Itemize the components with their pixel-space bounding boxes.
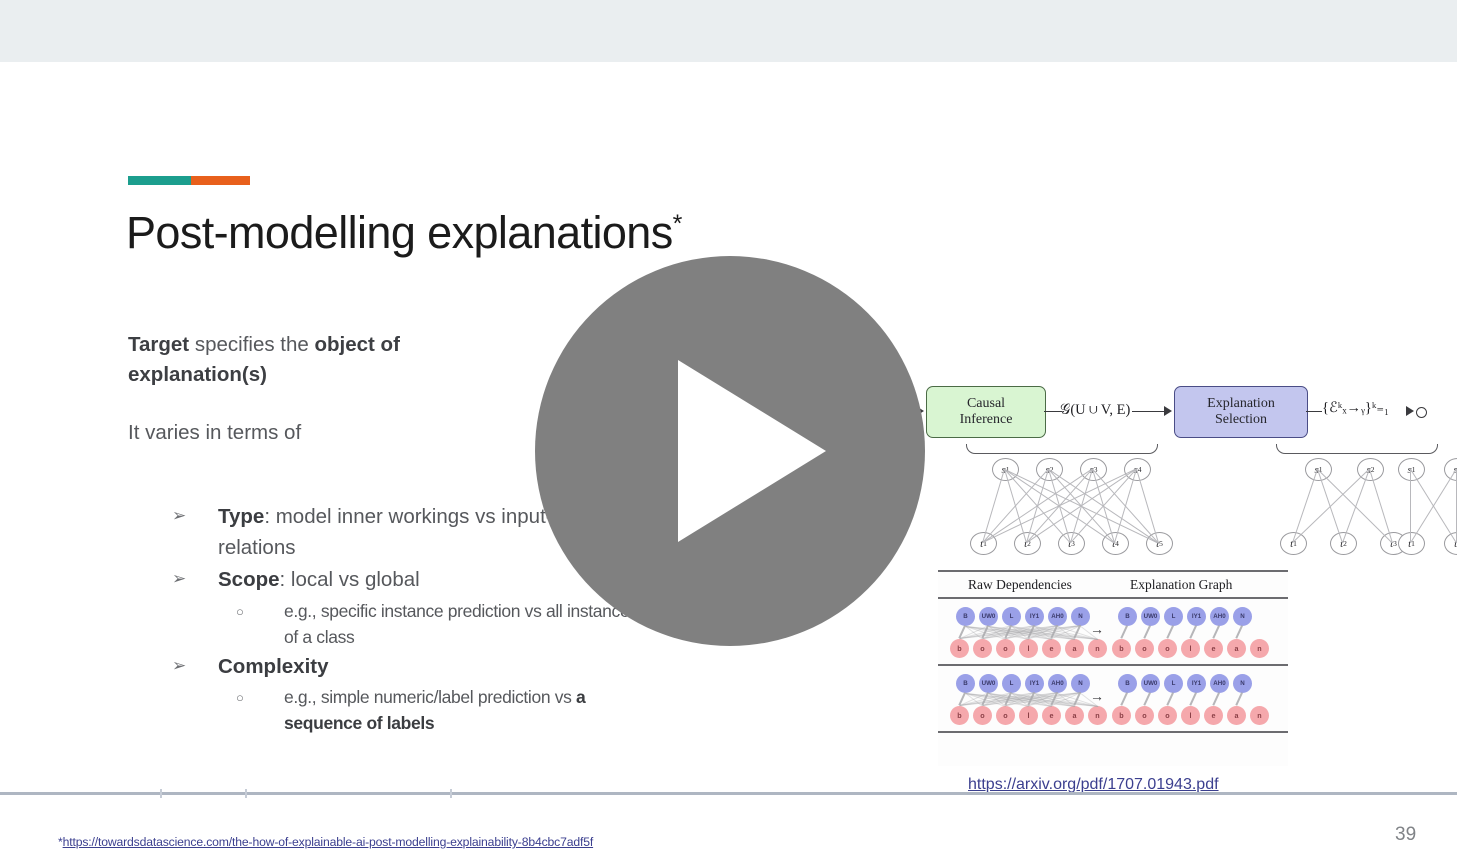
pipeline-box-causal-line1: Causal — [967, 396, 1005, 412]
pipeline-label-graph: 𝒢(U ∪ V, E) — [1060, 402, 1130, 419]
bullet-1-text: : local vs global — [280, 568, 420, 591]
dependency-node-target: o — [1158, 706, 1177, 725]
graph-edge — [1456, 469, 1457, 543]
dependency-node-source: B — [1118, 674, 1137, 693]
page-title-superscript: * — [673, 210, 682, 238]
dependency-node-source: UW0 — [979, 674, 998, 693]
bullet-0-label: Type — [218, 505, 264, 528]
graph-node-target: t1 — [1398, 532, 1425, 555]
dependency-edge — [1143, 692, 1151, 706]
dependency-edge — [1189, 625, 1197, 639]
dependency-node-source: IY1 — [1187, 607, 1206, 626]
dependency-node-target: n — [1088, 706, 1107, 725]
dependency-node-source: N — [1233, 607, 1252, 626]
dependency-node-source: IY1 — [1025, 607, 1044, 626]
arrow-bullet-icon: ➢ — [172, 501, 186, 532]
dependency-node-source: UW0 — [1141, 674, 1160, 693]
dependency-edge — [1143, 625, 1151, 639]
brace-left — [966, 444, 1158, 454]
dependency-node-target: e — [1204, 706, 1223, 725]
dependency-edge — [1212, 692, 1220, 706]
dependency-node-source: UW0 — [979, 607, 998, 626]
dependency-node-target: e — [1204, 639, 1223, 658]
dependency-node-source: L — [1164, 674, 1183, 693]
dependency-node-source: IY1 — [1025, 674, 1044, 693]
scrollbar-tick — [160, 789, 162, 798]
dependency-node-target: o — [973, 639, 992, 658]
pipeline-box-causal-line2: Inference — [960, 412, 1013, 428]
dependency-node-target: a — [1227, 639, 1246, 658]
pipeline-box-select-line2: Selection — [1215, 412, 1267, 428]
dependency-node-source: L — [1164, 607, 1183, 626]
intro-1-plain: specifies the — [189, 333, 314, 356]
dependency-graph-row: BUW0LIY1AH0NbooleanBUW0LIY1AH0Nboolean→ — [938, 666, 1288, 729]
intro-paragraph-1: Target specifies the object of explanati… — [128, 330, 523, 390]
graph-edge — [1342, 468, 1370, 542]
video-play-button[interactable] — [535, 256, 925, 646]
dependency-target-row: boolean — [950, 639, 1111, 658]
dependency-node-target: o — [973, 706, 992, 725]
dependency-source-row: BUW0LIY1AH0N — [956, 674, 1094, 693]
accent-bar — [128, 176, 250, 185]
circle-bullet-icon: ○ — [236, 599, 244, 625]
dependency-node-target: n — [1088, 639, 1107, 658]
dependency-node-source: AH0 — [1048, 607, 1067, 626]
dependency-node-target: o — [1135, 706, 1154, 725]
scrollbar-tick — [450, 789, 452, 798]
dependency-edge — [1189, 692, 1197, 706]
dependency-node-target: a — [1227, 706, 1246, 725]
dependency-node-target: o — [996, 706, 1015, 725]
bullet-3-label: Complexity — [218, 655, 329, 678]
dependency-edge — [1212, 625, 1220, 639]
page-title: Post-modelling explanations* — [126, 207, 682, 259]
dependency-node-target: a — [1065, 706, 1084, 725]
pipeline-connector — [1306, 411, 1322, 412]
dependency-transform-arrow-icon: → — [1090, 621, 1104, 637]
pipeline-box-explanation-selection: Explanation Selection — [1174, 386, 1308, 438]
dependency-node-target: o — [1158, 639, 1177, 658]
dependency-node-target: o — [996, 639, 1015, 658]
dependency-node-target: l — [1181, 639, 1200, 658]
dependency-node-target: e — [1042, 639, 1061, 658]
dependency-node-source: B — [1118, 607, 1137, 626]
dependency-node-target: n — [1250, 706, 1269, 725]
scrollbar-tick — [245, 789, 247, 798]
dependency-source-row: BUW0LIY1AH0N — [1118, 607, 1256, 626]
dependency-node-target: b — [1112, 706, 1131, 725]
pipeline-box-select-line1: Explanation — [1207, 396, 1275, 412]
intro-paragraph-2: It varies in terms of — [128, 418, 523, 448]
brace-right — [1276, 444, 1438, 454]
dependency-source-row: BUW0LIY1AH0N — [956, 607, 1094, 626]
dependency-node-target: b — [950, 639, 969, 658]
pipeline-arrow-icon — [1164, 406, 1172, 416]
dependency-node-target: l — [1181, 706, 1200, 725]
circle-bullet-icon: ○ — [236, 685, 244, 711]
dependency-node-target: a — [1065, 639, 1084, 658]
bullet-1-label: Scope — [218, 568, 280, 591]
dependency-node-source: AH0 — [1048, 674, 1067, 693]
footnote-link[interactable]: https://towardsdatascience.com/the-how-o… — [63, 835, 594, 849]
footnote-source[interactable]: *https://towardsdatascience.com/the-how-… — [58, 835, 593, 849]
dependency-node-target: o — [1135, 639, 1154, 658]
page-title-text: Post-modelling explanations — [126, 207, 673, 258]
dependency-node-source: UW0 — [1141, 607, 1160, 626]
dependency-target-row: boolean — [950, 706, 1111, 725]
pipeline-arrow-icon — [1406, 406, 1414, 416]
dependency-node-source: N — [1071, 607, 1090, 626]
dependency-node-source: N — [1071, 674, 1090, 693]
dependency-edge — [1120, 625, 1128, 639]
pipeline-box-causal-inference: Causal Inference — [926, 386, 1046, 438]
dependency-source-row: BUW0LIY1AH0N — [1118, 674, 1256, 693]
dependency-node-target: l — [1019, 639, 1038, 658]
dependency-target-row: boolean — [1112, 706, 1273, 725]
dependency-node-source: B — [956, 674, 975, 693]
pipeline-output-label: {ℰᵏₓ→ᵧ}ᵏ₌₁ — [1322, 400, 1389, 417]
dependency-node-source: AH0 — [1210, 607, 1229, 626]
page-number: 39 — [1395, 824, 1416, 846]
bipartite-graphs: s1s2s3s4t1t2t3t4t5 s1s2t1t2t3 s1s2t1t2 — [960, 444, 1450, 562]
dependency-node-target: b — [950, 706, 969, 725]
dependency-graph-row: BUW0LIY1AH0NbooleanBUW0LIY1AH0Nboolean→ — [938, 599, 1288, 662]
dependency-graph-panel: Raw Dependencies Explanation Graph BUW0L… — [938, 570, 1288, 766]
viewer-top-band — [0, 0, 1457, 62]
graph-edge — [1410, 469, 1411, 543]
dependency-edge — [1235, 625, 1243, 639]
slide-canvas: Post-modelling explanations* Target spec… — [0, 62, 1457, 792]
dependency-node-target: n — [1250, 639, 1269, 658]
accent-bar-orange-segment — [191, 176, 250, 185]
dependency-node-source: IY1 — [1187, 674, 1206, 693]
dependency-node-source: N — [1233, 674, 1252, 693]
bullet-4-text: e.g., simple numeric/label prediction vs — [284, 687, 576, 707]
panel-header-raw-dependencies: Raw Dependencies — [968, 577, 1072, 593]
arrow-bullet-icon: ➢ — [172, 564, 186, 595]
dependency-node-source: L — [1002, 674, 1021, 693]
arrow-bullet-icon: ➢ — [172, 651, 186, 682]
panel-header-explanation-graph: Explanation Graph — [1130, 577, 1232, 593]
pipeline-connector — [1132, 411, 1166, 412]
panel-rule — [938, 570, 1288, 572]
viewer-bottom-rule[interactable] — [0, 792, 1457, 795]
dependency-edge — [1166, 625, 1174, 639]
intro-1-bold-target: Target — [128, 333, 189, 356]
pipeline-output-terminal — [1416, 407, 1427, 418]
dependency-target-row: boolean — [1112, 639, 1273, 658]
dependency-node-source: AH0 — [1210, 674, 1229, 693]
dependency-edge — [1120, 692, 1128, 706]
play-triangle-icon — [678, 360, 826, 542]
dependency-node-target: e — [1042, 706, 1061, 725]
dependency-edge — [1166, 692, 1174, 706]
dependency-node-source: B — [956, 607, 975, 626]
accent-bar-teal-segment — [128, 176, 191, 185]
dependency-edge — [1235, 692, 1243, 706]
panel-rule — [938, 731, 1288, 733]
dependency-node-target: b — [1112, 639, 1131, 658]
body-text-column: Target specifies the object of explanati… — [128, 330, 523, 476]
dependency-node-target: l — [1019, 706, 1038, 725]
dependency-node-source: L — [1002, 607, 1021, 626]
dependency-transform-arrow-icon: → — [1090, 688, 1104, 704]
